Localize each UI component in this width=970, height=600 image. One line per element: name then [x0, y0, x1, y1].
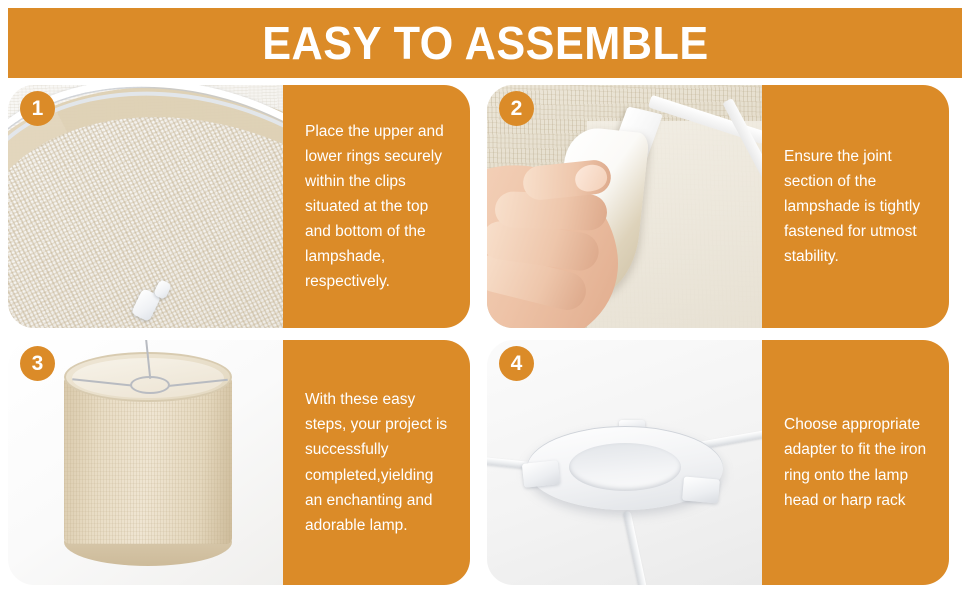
step-1-text-pane: Place the upper and lower rings securely… [283, 85, 470, 328]
step-card-3: 3 With these easy steps, your project is… [8, 340, 470, 585]
header-banner: EASY TO ASSEMBLE [8, 8, 962, 78]
step-1-description: Place the upper and lower rings securely… [305, 119, 450, 295]
step-1-photo: 1 [8, 85, 283, 328]
step-badge-2: 2 [499, 91, 534, 126]
step-badge-1: 1 [20, 91, 55, 126]
step-4-photo: 4 [487, 340, 762, 585]
step-3-description: With these easy steps, your project is s… [305, 387, 450, 538]
adapter-wire-bottom [624, 511, 650, 585]
step-card-1: 1 Place the upper and lower rings secure… [8, 85, 470, 328]
step-3-text-pane: With these easy steps, your project is s… [283, 340, 470, 585]
step-2-photo: 2 [487, 85, 762, 328]
step-3-photo: 3 [8, 340, 283, 585]
adapter-ring-hole [569, 443, 681, 491]
step-2-description: Ensure the joint section of the lampshad… [784, 144, 929, 270]
step-4-description: Choose appropriate adapter to fit the ir… [784, 412, 929, 512]
step-card-4: 4 Choose appropriate adapter to fit the … [487, 340, 949, 585]
step-4-text-pane: Choose appropriate adapter to fit the ir… [762, 340, 949, 585]
step-card-2: 2 Ensure the joint section of the lampsh… [487, 85, 949, 328]
infographic-page: EASY TO ASSEMBLE 1 Place the upper and l… [0, 0, 970, 600]
step-badge-4: 4 [499, 346, 534, 381]
step-2-text-pane: Ensure the joint section of the lampshad… [762, 85, 949, 328]
adapter-clip-right [682, 476, 720, 503]
adapter-clip-left [522, 460, 560, 488]
spider-fitter-ring [130, 376, 170, 394]
step-badge-3: 3 [20, 346, 55, 381]
page-title: EASY TO ASSEMBLE [262, 20, 708, 66]
